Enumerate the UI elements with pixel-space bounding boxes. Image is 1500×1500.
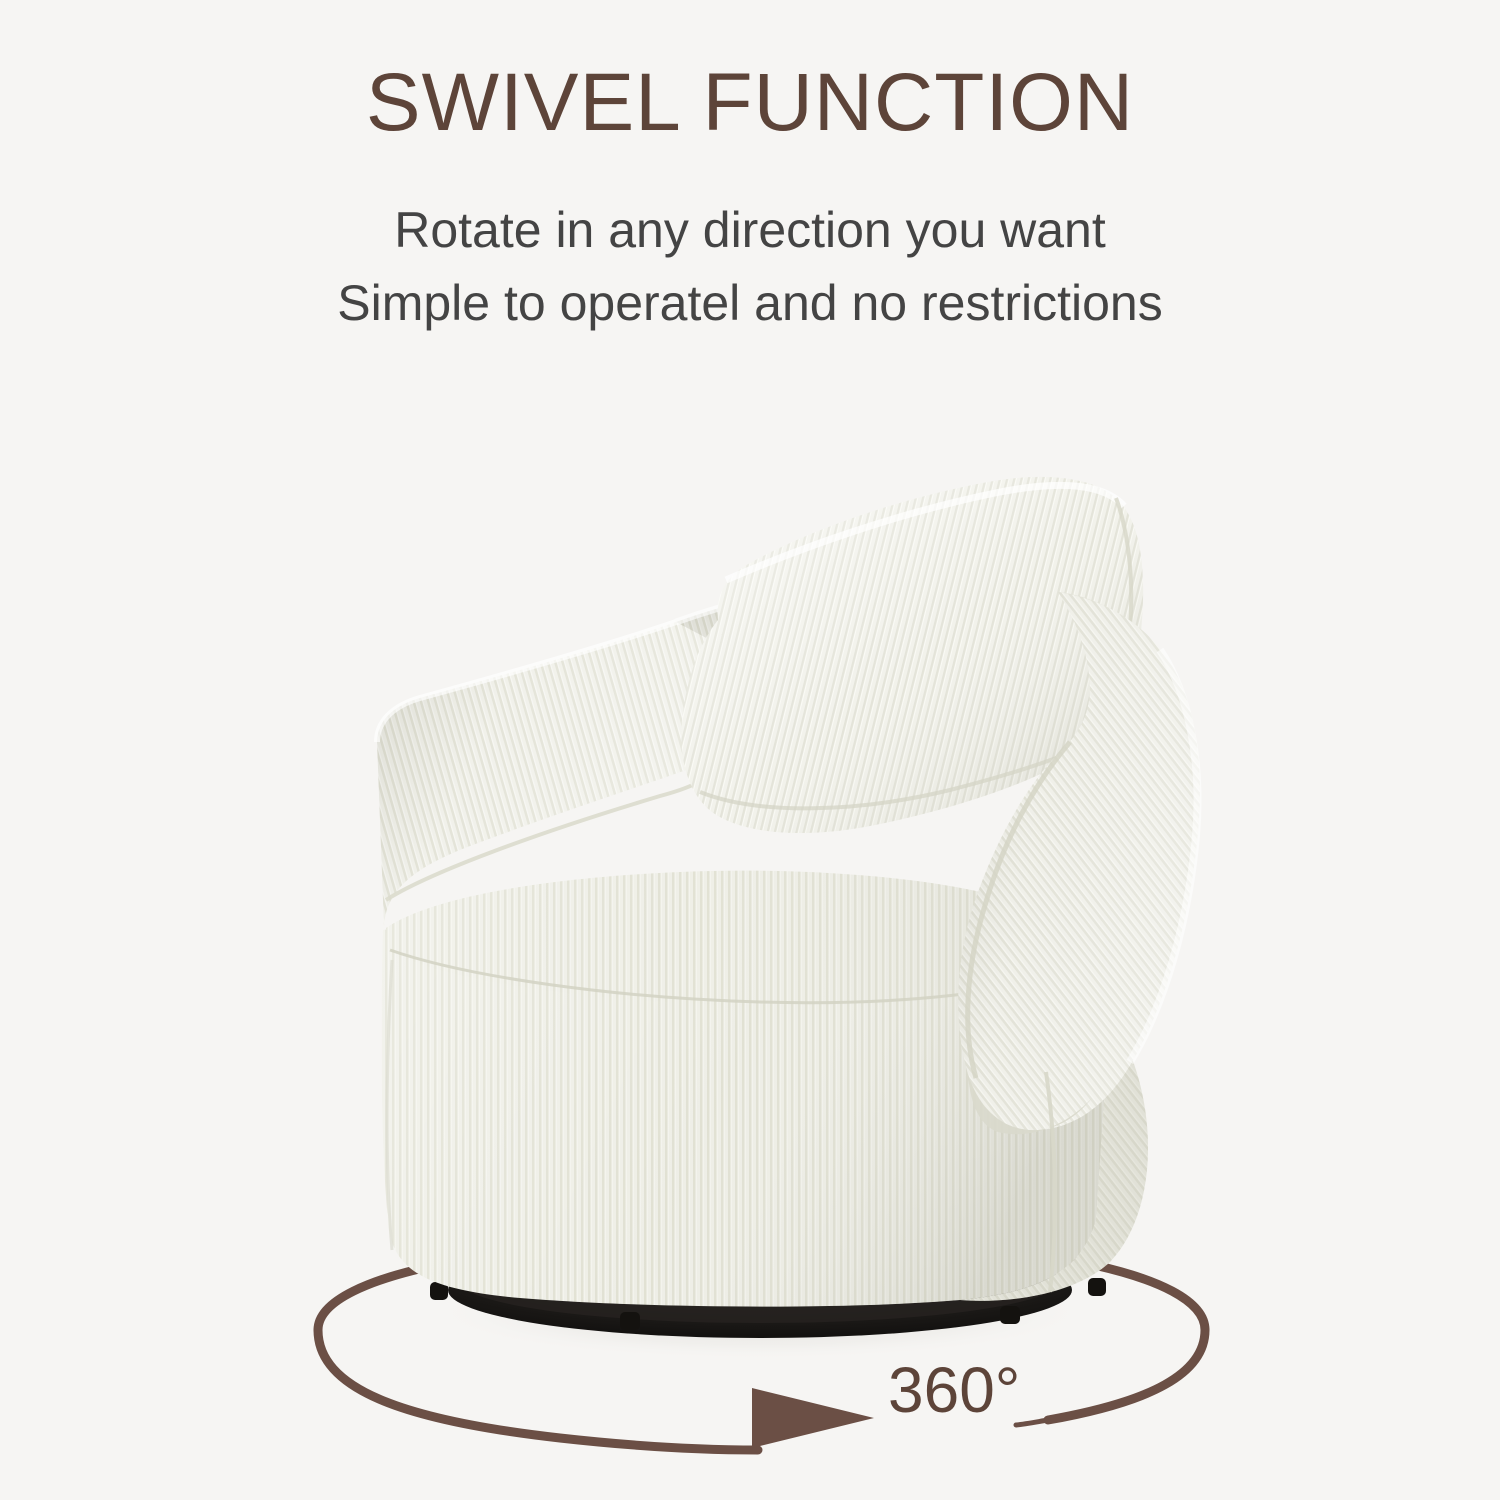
product-feature-image: SWIVEL FUNCTION Rotate in any direction … bbox=[0, 0, 1500, 1500]
rotation-degree-label: 360° bbox=[888, 1358, 1020, 1422]
rotation-arrow-icon bbox=[752, 1388, 874, 1448]
chair-swivel-svg bbox=[0, 0, 1500, 1500]
product-illustration bbox=[0, 0, 1500, 1500]
